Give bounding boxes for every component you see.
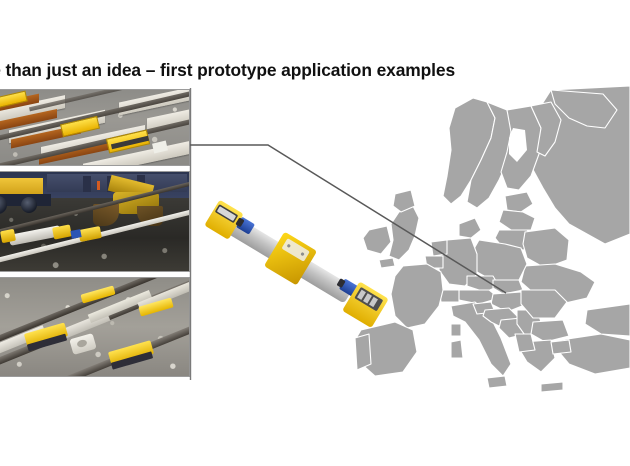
photo-construction-site-excavator: [0, 172, 189, 271]
photo-stack: [0, 89, 190, 377]
list-item[interactable]: [0, 171, 190, 272]
europe-map: [355, 84, 630, 394]
prototype-device-svg: [196, 196, 396, 331]
page-title: ore than just an idea – first prototype …: [0, 60, 534, 81]
prototype-device: [196, 196, 396, 331]
photo-track-with-yellow-devices: [0, 90, 189, 165]
slide-canvas: ore than just an idea – first prototype …: [0, 0, 630, 466]
photo-track-sensor-row: [0, 278, 189, 376]
list-item[interactable]: [0, 277, 190, 377]
europe-map-svg: [355, 84, 630, 394]
list-item[interactable]: [0, 89, 190, 166]
